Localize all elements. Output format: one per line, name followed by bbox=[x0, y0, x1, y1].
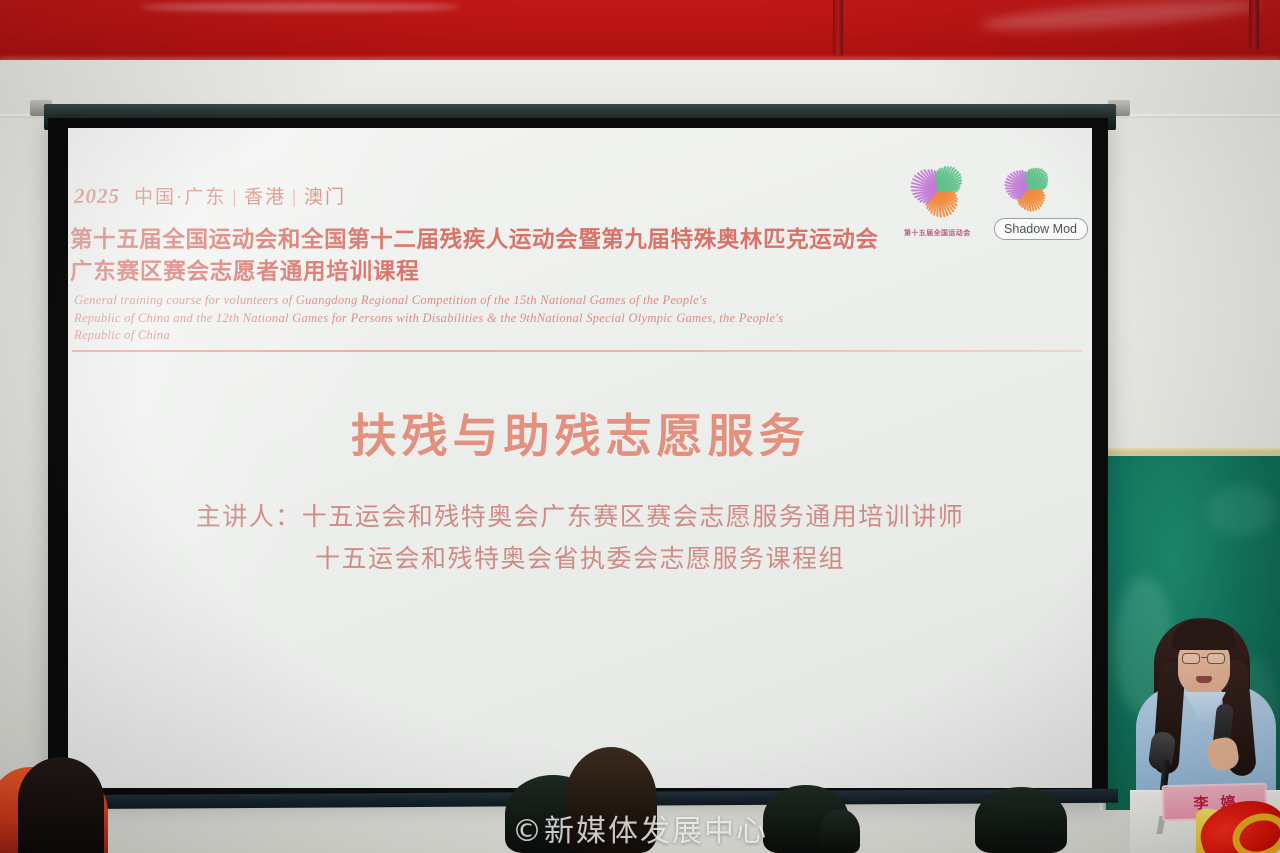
audience-head-6 bbox=[975, 787, 1067, 853]
slide-presenter-credits: 主讲人：十五运会和残特奥会广东赛区赛会志愿服务通用培训讲师 十五运会和残特奥会省… bbox=[68, 496, 1092, 580]
kicker-separator-1: | bbox=[232, 187, 238, 208]
slide-kicker-line: 2025中国·广东|香港|澳门 bbox=[74, 182, 346, 209]
audience-head-1 bbox=[18, 757, 104, 853]
presenter-mouth bbox=[1196, 676, 1212, 683]
slide-year: 2025 bbox=[74, 184, 120, 208]
games-emblem-primary bbox=[906, 158, 970, 222]
slide-content: 2025中国·广东|香港|澳门 第十五届全国运动会 Shadow Mod 第十五… bbox=[68, 128, 1092, 788]
red-ceiling-panel bbox=[0, 0, 1280, 62]
podium-decoration bbox=[1196, 792, 1280, 853]
ceiling-glare bbox=[140, 2, 460, 12]
slide-header-line-2: 广东赛区赛会志愿者通用培训课程 bbox=[70, 256, 1080, 288]
kicker-separator-2: | bbox=[292, 187, 298, 208]
games-emblem-secondary bbox=[1000, 160, 1056, 216]
slide-location-hk: 香港 bbox=[244, 187, 286, 208]
presenter-credit-line-1: 主讲人：十五运会和残特奥会广东赛区赛会志愿服务通用培训讲师 bbox=[196, 502, 965, 531]
slide-header-en-line-2: Republic of China and the 12th National … bbox=[74, 310, 974, 328]
audience-head-3 bbox=[565, 747, 657, 853]
slide-header-divider bbox=[72, 350, 1082, 352]
ceiling-glare-secondary bbox=[980, 0, 1261, 36]
slide-location-main: 中国·广东 bbox=[134, 187, 226, 208]
slide-header-english: General training course for volunteers o… bbox=[74, 292, 974, 345]
ceiling-hook-left bbox=[833, 0, 843, 56]
slide-header-en-line-3: Republic of China bbox=[74, 327, 974, 345]
slide-header-chinese: 第十五届全国运动会和全国第十二届残疾人运动会暨第九届特殊奥林匹克运动会 广东赛区… bbox=[70, 224, 1080, 288]
slide-header-line-1: 第十五届全国运动会和全国第十二届残疾人运动会暨第九届特殊奥林匹克运动会 bbox=[70, 224, 1080, 256]
audience-head-5 bbox=[820, 809, 860, 853]
projection-screen-frame: 2025中国·广东|香港|澳门 第十五届全国运动会 Shadow Mod 第十五… bbox=[48, 118, 1108, 798]
slide-location-mo: 澳门 bbox=[304, 187, 346, 208]
ceiling-hook-right bbox=[1249, 0, 1259, 50]
presenter-hair-front bbox=[1172, 620, 1236, 650]
presenter-credit-line-2: 十五运会和残特奥会省执委会志愿服务课程组 bbox=[68, 538, 1092, 580]
slide-header-en-line-1: General training course for volunteers o… bbox=[74, 292, 974, 310]
presentation-photo-scene: 2025中国·广东|香港|澳门 第十五届全国运动会 Shadow Mod 第十五… bbox=[0, 0, 1280, 853]
presenter-glasses-icon bbox=[1182, 653, 1226, 664]
projection-screen-surface: 2025中国·广东|香港|澳门 第十五届全国运动会 Shadow Mod 第十五… bbox=[68, 128, 1092, 788]
slide-main-title: 扶残与助残志愿服务 bbox=[68, 400, 1092, 466]
